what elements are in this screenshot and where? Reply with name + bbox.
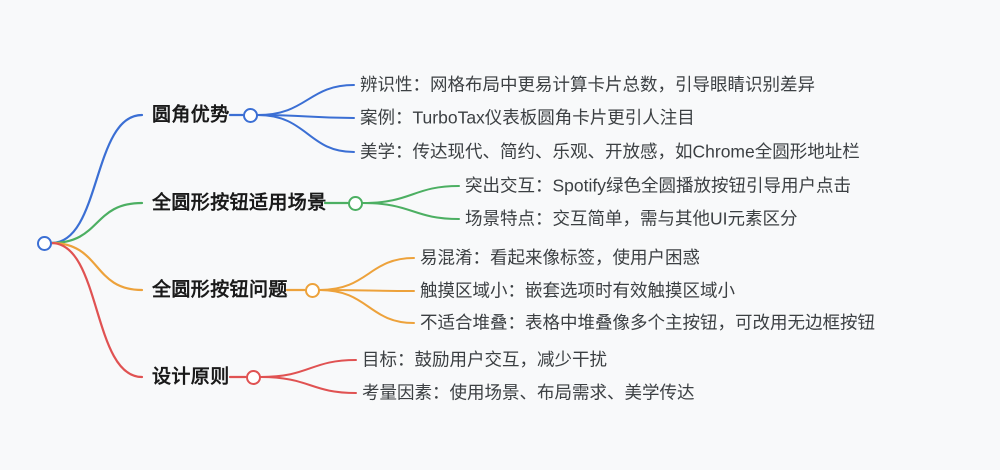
branch-2-leaf-1[interactable]: 突出交互：Spotify绿色全圆播放按钮引导用户点击 [465,177,851,195]
mindmap-edge [258,115,355,118]
branch-4-label[interactable]: 设计原则 [152,368,230,387]
branch-1-leaf-2[interactable]: 案例：TurboTax仪表板圆角卡片更引人注目 [360,109,695,127]
mindmap-edge [52,115,143,243]
branch-3-leaf-3[interactable]: 不适合堆叠：表格中堆叠像多个主按钮，可改用无边框按钮 [420,314,875,332]
mindmap-edge [320,258,415,290]
root-node[interactable] [37,236,52,251]
branch-1-leaf-1[interactable]: 辨识性：网格布局中更易计算卡片总数，引导眼睛识别差异 [360,76,815,94]
mindmap-edge [363,203,460,219]
branch-4-node[interactable] [246,370,261,385]
branch-4-leaf-1[interactable]: 目标：鼓励用户交互，减少干扰 [362,351,607,369]
mindmap-edge [261,360,357,377]
branch-2-label[interactable]: 全圆形按钮适用场景 [152,194,327,213]
mindmap-canvas: 圆角优势辨识性：网格布局中更易计算卡片总数，引导眼睛识别差异案例：TurboTa… [0,0,1000,470]
mindmap-edge [258,85,355,115]
branch-3-label[interactable]: 全圆形按钮问题 [152,281,288,300]
branch-4-leaf-2[interactable]: 考量因素：使用场景、布局需求、美学传达 [362,384,695,402]
branch-1-leaf-3[interactable]: 美学：传达现代、简约、乐观、开放感，如Chrome全圆形地址栏 [360,143,860,161]
mindmap-edge [363,186,460,203]
mindmap-edge [52,243,143,377]
mindmap-edge [52,243,143,290]
branch-2-leaf-2[interactable]: 场景特点：交互简单，需与其他UI元素区分 [465,210,798,228]
mindmap-edge [52,203,143,243]
mindmap-edge [320,290,415,291]
branch-1-node[interactable] [243,108,258,123]
branch-3-leaf-2[interactable]: 触摸区域小：嵌套选项时有效触摸区域小 [420,282,735,300]
mindmap-edge [320,290,415,323]
branch-3-node[interactable] [305,283,320,298]
branch-2-node[interactable] [348,196,363,211]
branch-3-leaf-1[interactable]: 易混淆：看起来像标签，使用户困惑 [420,249,700,267]
mindmap-edge [258,115,355,152]
mindmap-edge [261,377,357,393]
branch-1-label[interactable]: 圆角优势 [152,106,230,125]
